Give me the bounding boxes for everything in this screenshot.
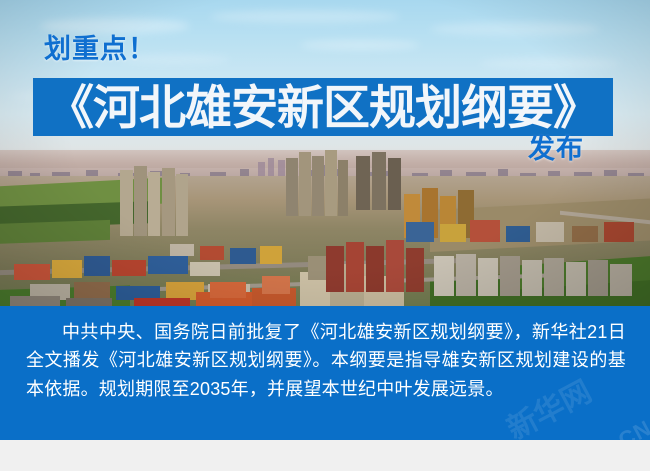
city-ground xyxy=(0,176,650,308)
page-title: 《河北雄安新区规划纲要》 xyxy=(35,84,611,131)
cloud-shape xyxy=(480,58,620,69)
cloud-shape xyxy=(40,18,190,34)
kicker-text: 划重点！ xyxy=(44,36,156,63)
summary-block: 中共中央、国务院日前批复了《河北雄安新区规划纲要》，新华社21日全文播发《河北雄… xyxy=(0,306,650,440)
cloud-shape xyxy=(430,22,600,36)
poster-root: 划重点！ 《河北雄安新区规划纲要》 发布 中共中央、国务院日前批复了《河北雄安新… xyxy=(0,0,650,471)
watermark-url: WWW.NEWS.CN xyxy=(483,415,650,440)
publish-label: 发布 xyxy=(528,136,584,163)
cloud-shape xyxy=(210,10,400,23)
cloud-shape xyxy=(300,40,420,50)
footer-strip xyxy=(0,440,650,471)
summary-text: 中共中央、国务院日前批复了《河北雄安新区规划纲要》，新华社21日全文播发《河北雄… xyxy=(26,318,626,403)
title-band: 《河北雄安新区规划纲要》 xyxy=(33,78,613,136)
